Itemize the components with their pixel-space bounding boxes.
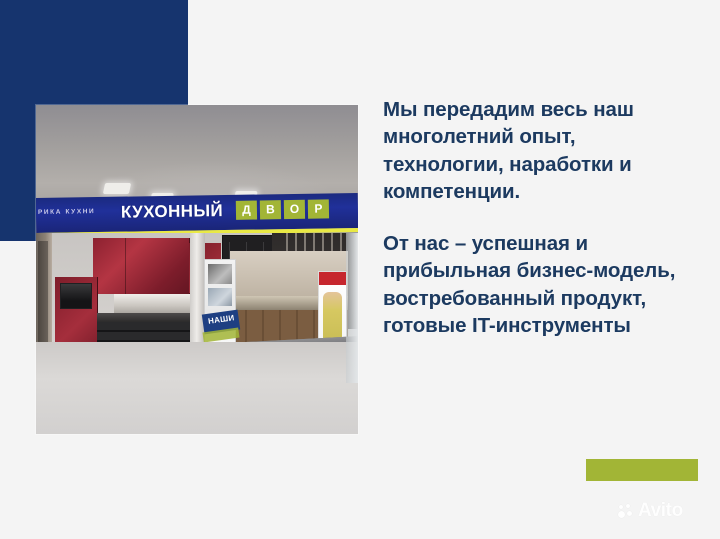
avito-watermark-text: Avito (638, 500, 683, 522)
sign-letter: Р (308, 199, 329, 218)
avito-logo-icon (618, 504, 635, 519)
paragraph-two: От нас – успешная и прибыльная бизнес-мо… (383, 230, 683, 339)
paragraph-one: Мы передадим весь наш многолетний опыт, … (383, 96, 683, 205)
store-photo: РИКА КУХНИ КУХОННЫЙ Д В О Р (36, 105, 358, 434)
ceiling (36, 105, 358, 203)
store-photo-content: РИКА КУХНИ КУХОННЫЙ Д В О Р (36, 105, 358, 434)
built-in-oven (60, 283, 92, 309)
banner-photo-top (208, 264, 232, 284)
sign-main-text: КУХОННЫЙ (121, 201, 223, 223)
presentation-slide: РИКА КУХНИ КУХОННЫЙ Д В О Р (0, 0, 720, 539)
sign-boxed-letters: Д В О Р (236, 199, 329, 219)
sign-secondary-text: РИКА КУХНИ (38, 208, 95, 216)
banner-photo-bottom (208, 288, 232, 306)
accent-bar (586, 459, 698, 481)
store-interior: НАШИ (36, 233, 358, 434)
banner-red-header (319, 272, 346, 285)
store-floor (36, 342, 358, 434)
avito-watermark: Avito (618, 500, 683, 522)
sign-letter: О (284, 200, 305, 219)
sign-letter: В (260, 200, 281, 219)
red-upper-cabinets (93, 238, 190, 294)
sign-letter: Д (236, 201, 257, 220)
text-column: Мы передадим весь наш многолетний опыт, … (383, 96, 683, 339)
storefront-sign: РИКА КУХНИ КУХОННЫЙ Д В О Р (36, 193, 358, 233)
ceiling-light (103, 183, 131, 194)
glass-partition (346, 233, 358, 383)
